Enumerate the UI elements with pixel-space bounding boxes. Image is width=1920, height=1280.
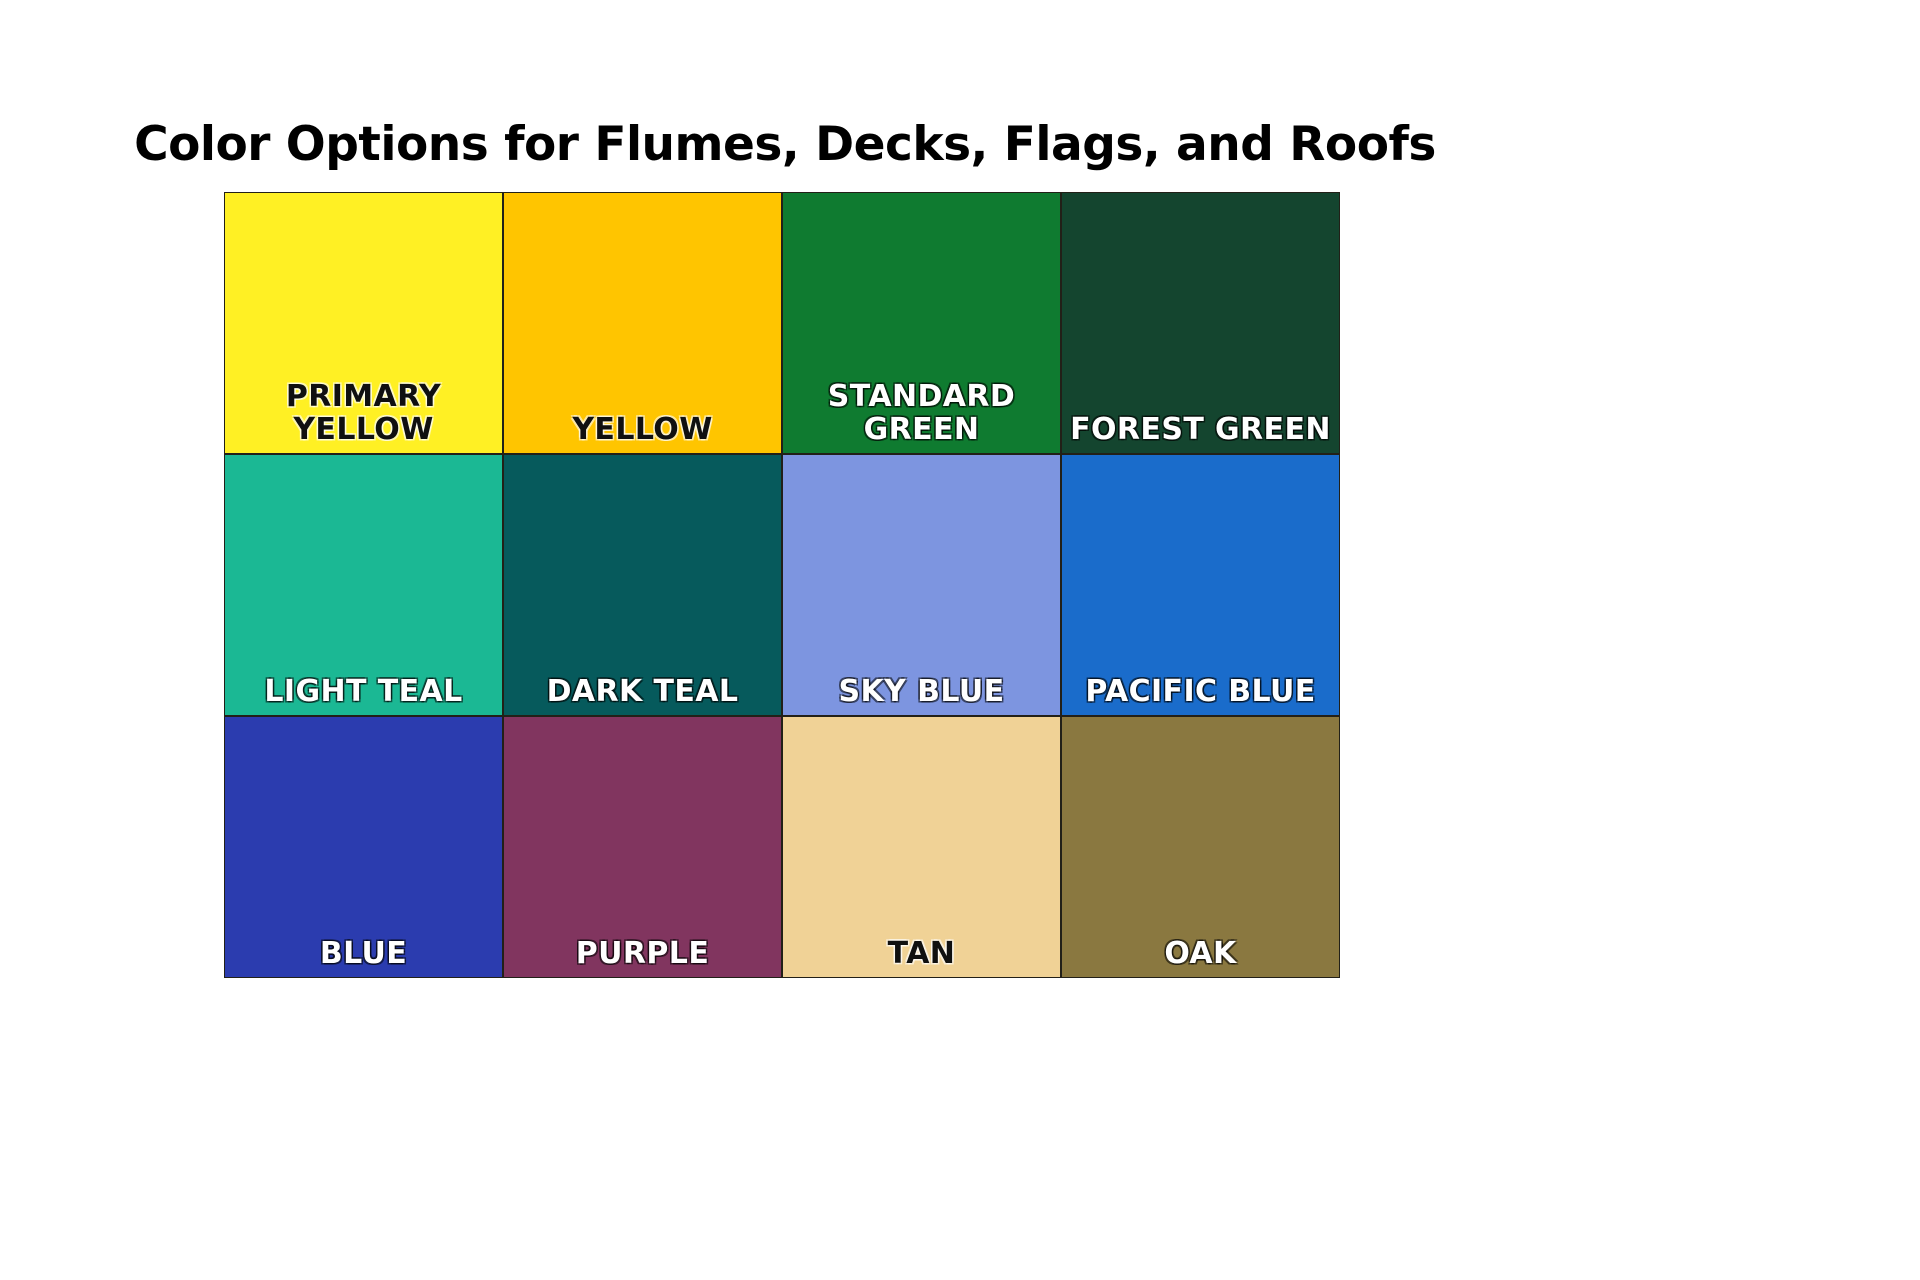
color-swatch-label: BLUE [225, 937, 502, 977]
color-swatch[interactable]: BLUE [224, 716, 503, 978]
color-swatch[interactable]: PURPLE [503, 716, 782, 978]
color-swatch-label: FOREST GREEN [1062, 413, 1339, 453]
color-swatch[interactable]: OAK [1061, 716, 1340, 978]
color-swatch-label: SKY BLUE [783, 675, 1060, 715]
color-swatch[interactable]: LIGHT TEAL [224, 454, 503, 716]
color-swatch[interactable]: PACIFIC BLUE [1061, 454, 1340, 716]
color-swatch-grid: PRIMARY YELLOWYELLOWSTANDARD GREENFOREST… [224, 192, 1340, 978]
color-swatch-label: OAK [1062, 937, 1339, 977]
color-swatch[interactable]: STANDARD GREEN [782, 192, 1061, 454]
color-swatch-label: STANDARD GREEN [783, 380, 1060, 453]
color-swatch[interactable]: SKY BLUE [782, 454, 1061, 716]
color-swatch[interactable]: DARK TEAL [503, 454, 782, 716]
color-swatch-label: YELLOW [504, 413, 781, 453]
color-swatch-label: PRIMARY YELLOW [225, 380, 502, 453]
color-swatch[interactable]: YELLOW [503, 192, 782, 454]
color-swatch[interactable]: TAN [782, 716, 1061, 978]
color-swatch-label: LIGHT TEAL [225, 675, 502, 715]
color-swatch[interactable]: PRIMARY YELLOW [224, 192, 503, 454]
color-swatch-label: PURPLE [504, 937, 781, 977]
color-swatch[interactable]: FOREST GREEN [1061, 192, 1340, 454]
color-swatch-label: TAN [783, 937, 1060, 977]
color-swatch-label: DARK TEAL [504, 675, 781, 715]
color-swatch-label: PACIFIC BLUE [1062, 675, 1339, 715]
page-title: Color Options for Flumes, Decks, Flags, … [0, 117, 1570, 172]
